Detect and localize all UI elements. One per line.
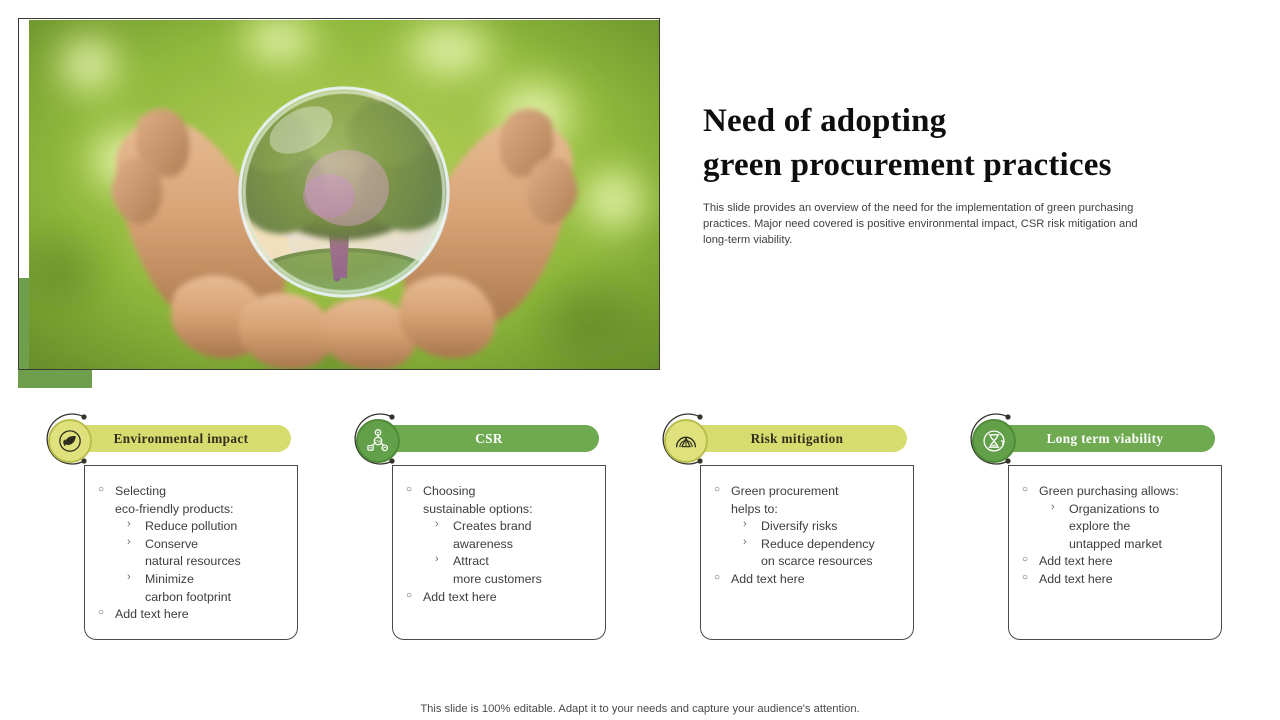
list-item: ○Add text here — [1019, 553, 1213, 571]
sub-bullet-text: Creates brand — [453, 519, 532, 533]
list-item: ○Green purchasing allows:›Organizations … — [1019, 483, 1213, 553]
card-body: ○Choosingsustainable options:›Creates br… — [392, 465, 606, 640]
sub-bullet-list: ›Reduce pollution›Conservenatural resour… — [115, 518, 289, 606]
svg-text:CSR: CSR — [375, 439, 383, 443]
sub-bullet-text-cont: more customers — [453, 571, 597, 589]
sub-bullet-marker: › — [435, 517, 439, 533]
sub-list-item: ›Organizations toexplore theuntapped mar… — [1039, 501, 1213, 554]
list-item: ○Add text here — [403, 589, 597, 607]
list-item: ○Add text here — [711, 571, 905, 589]
sub-bullet-text: Attract — [453, 554, 489, 568]
sub-bullet-text-cont: explore the — [1069, 518, 1213, 536]
card-title: Environmental impact — [114, 431, 249, 447]
page-title-line2: green procurement practices — [703, 147, 1112, 183]
bullet-list: ○Choosingsustainable options:›Creates br… — [403, 483, 597, 606]
bullet-marker: ○ — [98, 606, 104, 620]
gauge-warning-icon[interactable] — [664, 419, 708, 463]
card-body: ○Green purchasing allows:›Organizations … — [1008, 465, 1222, 640]
bullet-text-cont: helps to: — [731, 501, 905, 519]
sub-bullet-text: Reduce pollution — [145, 519, 237, 533]
bullet-marker: ○ — [1022, 571, 1028, 585]
sub-list-item: ›Minimizecarbon footprint — [115, 571, 289, 606]
sub-bullet-list: ›Creates brandawareness›Attractmore cust… — [423, 518, 597, 588]
footer-note: This slide is 100% editable. Adapt it to… — [0, 703, 1280, 715]
bullet-text: Green procurement — [731, 484, 838, 498]
bullet-marker: ○ — [714, 571, 720, 585]
card-title: Risk mitigation — [751, 431, 844, 447]
sub-bullet-text: Reduce dependency — [761, 537, 875, 551]
hero-frame-outline — [18, 18, 660, 370]
bullet-list: ○Green procurementhelps to:›Diversify ri… — [711, 483, 905, 589]
leaf-in-hand-icon[interactable] — [48, 419, 92, 463]
sub-bullet-text-cont: on scarce resources — [761, 553, 905, 571]
sub-bullet-marker: › — [743, 517, 747, 533]
sub-bullet-text-cont: carbon footprint — [145, 589, 289, 607]
card-header-pill[interactable]: Environmental impact — [71, 425, 291, 452]
card-body: ○Selectingeco-friendly products:›Reduce … — [84, 465, 298, 640]
hourglass-refresh-icon[interactable] — [972, 419, 1016, 463]
bullet-list: ○Selectingeco-friendly products:›Reduce … — [95, 483, 289, 624]
bullet-text: Add text here — [423, 590, 497, 604]
bullet-text: Selecting — [115, 484, 166, 498]
bullet-text: Add text here — [1039, 554, 1113, 568]
bullet-text: Add text here — [115, 607, 189, 621]
network-nodes-icon[interactable]: CSR — [356, 419, 400, 463]
sub-bullet-marker: › — [435, 552, 439, 568]
bullet-marker: ○ — [98, 483, 104, 497]
sub-bullet-marker: › — [1051, 500, 1055, 516]
sub-list-item: ›Attractmore customers — [423, 553, 597, 588]
bullet-text: Choosing — [423, 484, 475, 498]
card-body: ○Green procurementhelps to:›Diversify ri… — [700, 465, 914, 640]
sub-list-item: ›Diversify risks — [731, 518, 905, 536]
card-long-term-viability[interactable]: Long term viability ○Green purchasing al… — [967, 408, 1222, 640]
list-item: ○Add text here — [95, 606, 289, 624]
card-header-pill[interactable]: CSR — [379, 425, 599, 452]
sub-list-item: ›Conservenatural resources — [115, 536, 289, 571]
bullet-text-cont: sustainable options: — [423, 501, 597, 519]
sub-list-item: ›Creates brandawareness — [423, 518, 597, 553]
sub-bullet-text-cont: untapped market — [1069, 536, 1213, 554]
bullet-marker: ○ — [406, 589, 412, 603]
card-environmental-impact[interactable]: Environmental impact ○Selectingeco-frien… — [43, 408, 298, 640]
sub-bullet-text: Conserve — [145, 537, 198, 551]
bullet-text: Add text here — [731, 572, 805, 586]
page-title: Need of adopting green procurement pract… — [703, 100, 1203, 188]
card-header-pill[interactable]: Risk mitigation — [687, 425, 907, 452]
sub-bullet-marker: › — [127, 517, 131, 533]
sub-bullet-text-cont: awareness — [453, 536, 597, 554]
bullet-list: ○Green purchasing allows:›Organizations … — [1019, 483, 1213, 589]
card-header-pill[interactable]: Long term viability — [995, 425, 1215, 452]
card-title: CSR — [475, 431, 503, 447]
list-item: ○Add text here — [1019, 571, 1213, 589]
list-item: ○Selectingeco-friendly products:›Reduce … — [95, 483, 289, 606]
sub-bullet-marker: › — [127, 535, 131, 551]
bullet-marker: ○ — [406, 483, 412, 497]
bullet-marker: ○ — [714, 483, 720, 497]
card-title: Long term viability — [1047, 431, 1164, 447]
list-item: ○Green procurementhelps to:›Diversify ri… — [711, 483, 905, 571]
bullet-text: Green purchasing allows: — [1039, 484, 1179, 498]
sub-list-item: ›Reduce pollution — [115, 518, 289, 536]
sub-bullet-marker: › — [127, 570, 131, 586]
sub-bullet-list: ›Diversify risks›Reduce dependencyon sca… — [731, 518, 905, 571]
page-subtitle: This slide provides an overview of the n… — [703, 200, 1165, 249]
sub-bullet-text: Organizations to — [1069, 502, 1159, 516]
card-csr[interactable]: CSR CSR ○Choosingsustainable options:›Cr… — [351, 408, 606, 640]
green-accent-foot — [18, 368, 92, 388]
bullet-text: Add text here — [1039, 572, 1113, 586]
sub-bullet-marker: › — [743, 535, 747, 551]
header-block: Need of adopting green procurement pract… — [703, 100, 1203, 260]
page-title-line1: Need of adopting — [703, 103, 946, 139]
sub-bullet-list: ›Organizations toexplore theuntapped mar… — [1039, 501, 1213, 554]
list-item: ○Choosingsustainable options:›Creates br… — [403, 483, 597, 589]
sub-bullet-text: Minimize — [145, 572, 194, 586]
card-risk-mitigation[interactable]: Risk mitigation ○Green procurementhelps … — [659, 408, 914, 640]
bullet-text-cont: eco-friendly products: — [115, 501, 289, 519]
bullet-marker: ○ — [1022, 483, 1028, 497]
bullet-marker: ○ — [1022, 553, 1028, 567]
sub-list-item: ›Reduce dependencyon scarce resources — [731, 536, 905, 571]
hero-image-block — [18, 18, 660, 372]
sub-bullet-text: Diversify risks — [761, 519, 837, 533]
sub-bullet-text-cont: natural resources — [145, 553, 289, 571]
